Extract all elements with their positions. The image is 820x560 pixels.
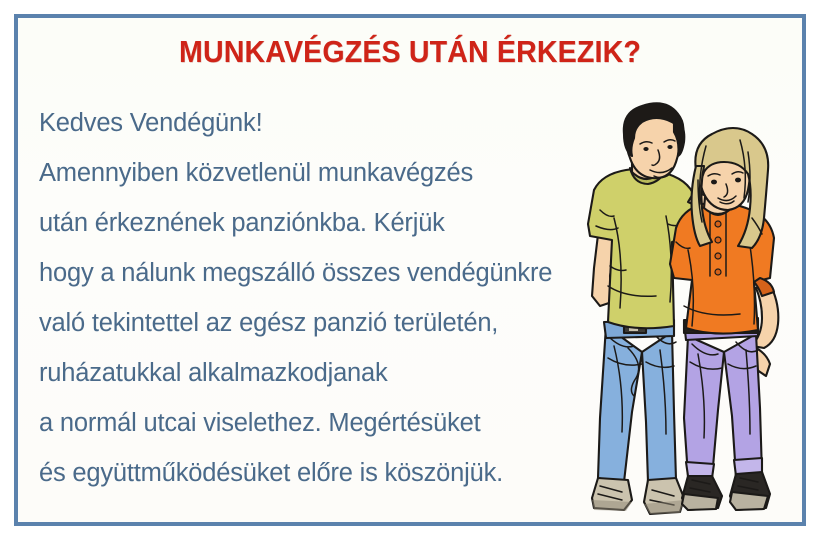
poster-root: MUNKAVÉGZÉS UTÁN ÉRKEZIK? Kedves Vendégü… (0, 0, 820, 560)
couple-illustration: .ol { stroke:#1c1a18; stroke-width:2.1; … (584, 100, 796, 516)
poster-inner: MUNKAVÉGZÉS UTÁN ÉRKEZIK? Kedves Vendégü… (18, 18, 802, 522)
notice-line-6: ruházatukkal alkalmazkodjanak (39, 348, 639, 398)
notice-line-8: és együttműködésüket előre is köszönjük. (39, 448, 639, 498)
notice-line-4: hogy a nálunk megszálló összes vendégünk… (39, 248, 639, 298)
notice-line-3: után érkeznének panziónkba. Kérjük (39, 198, 639, 248)
notice-line-5: való tekintettel az egész panzió terület… (39, 298, 639, 348)
page-title: MUNKAVÉGZÉS UTÁN ÉRKEZIK? (49, 34, 770, 70)
notice-line-7: a normál utcai viselethez. Megértésüket (39, 398, 639, 448)
couple-illustration-svg: .ol { stroke:#1c1a18; stroke-width:2.1; … (584, 100, 796, 516)
notice-line-2: Amennyiben közvetlenül munkavégzés (39, 148, 639, 198)
notice-line-1: Kedves Vendégünk! (39, 98, 639, 148)
notice-body: Kedves Vendégünk! Amennyiben közvetlenül… (39, 98, 639, 498)
poster-frame: MUNKAVÉGZÉS UTÁN ÉRKEZIK? Kedves Vendégü… (14, 14, 806, 526)
